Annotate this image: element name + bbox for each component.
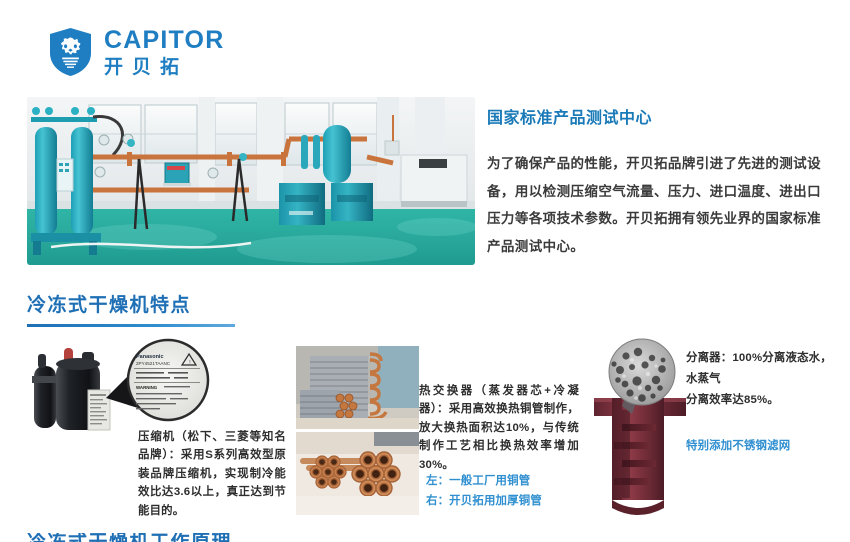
compressor-caption: 压缩机（松下、三菱等知名品牌）：采用S系列高效型原装品牌压缩机，实现制冷能效比达…	[138, 428, 286, 520]
copper-pipes-note-right: 右：开贝拓用加厚铜管	[426, 492, 596, 512]
shield-lion-icon	[48, 27, 93, 77]
separator-note: 特别添加不锈钢滤网	[686, 437, 848, 455]
separator-caption-line1: 分离器：100%分离液态水，	[686, 348, 848, 369]
section-underline	[27, 324, 235, 327]
svg-text:2PY4521TAANC: 2PY4521TAANC	[136, 361, 171, 366]
hero-text-block: 国家标准产品测试中心 为了确保产品的性能，开贝拓品牌引进了先进的测试设备，用以检…	[487, 104, 821, 261]
separator-diagram	[592, 336, 690, 520]
testing-center-photo	[27, 97, 475, 265]
separator-caption-line2: 水蒸气	[686, 369, 848, 390]
section-heading: 冷冻式干燥机特点	[27, 290, 235, 327]
brochure-page: CAPITOR 开贝拓	[0, 0, 850, 542]
copper-pipes-note-left: 左：一般工厂用铜管	[426, 472, 596, 492]
next-section-title: 冷冻式干燥机工作原理	[27, 533, 232, 542]
section-title: 冷冻式干燥机特点	[27, 290, 235, 317]
brand-name-en: CAPITOR	[104, 28, 224, 53]
brand-logo: CAPITOR 开贝拓	[48, 27, 224, 77]
heat-exchanger-coil-photo	[296, 346, 419, 429]
heat-exchanger-caption: 热交换器（蒸发器芯+冷凝器）：采用高效换热铜管制作，放大换热面积达10%，与传统…	[419, 382, 579, 474]
svg-text:WARNING: WARNING	[136, 385, 158, 390]
copper-pipes-notes: 左：一般工厂用铜管 右：开贝拓用加厚铜管	[426, 472, 596, 511]
brand-wordmark: CAPITOR 开贝拓	[104, 28, 224, 77]
svg-text:!: !	[189, 360, 190, 366]
hero-body: 为了确保产品的性能，开贝拓品牌引进了先进的测试设备，用以检测压缩空气流量、压力、…	[487, 150, 821, 261]
hero-title: 国家标准产品测试中心	[487, 104, 821, 128]
brand-name-cn: 开贝拓	[104, 58, 224, 77]
compressor-photo: Panasonic 2PY4521TAANC WARNING !	[26, 336, 216, 434]
svg-text:Panasonic: Panasonic	[136, 354, 164, 360]
separator-caption: 分离器：100%分离液态水， 水蒸气 分离效率达85%。	[686, 348, 848, 411]
copper-pipes-photo	[296, 432, 419, 515]
separator-caption-line3: 分离效率达85%。	[686, 390, 848, 411]
